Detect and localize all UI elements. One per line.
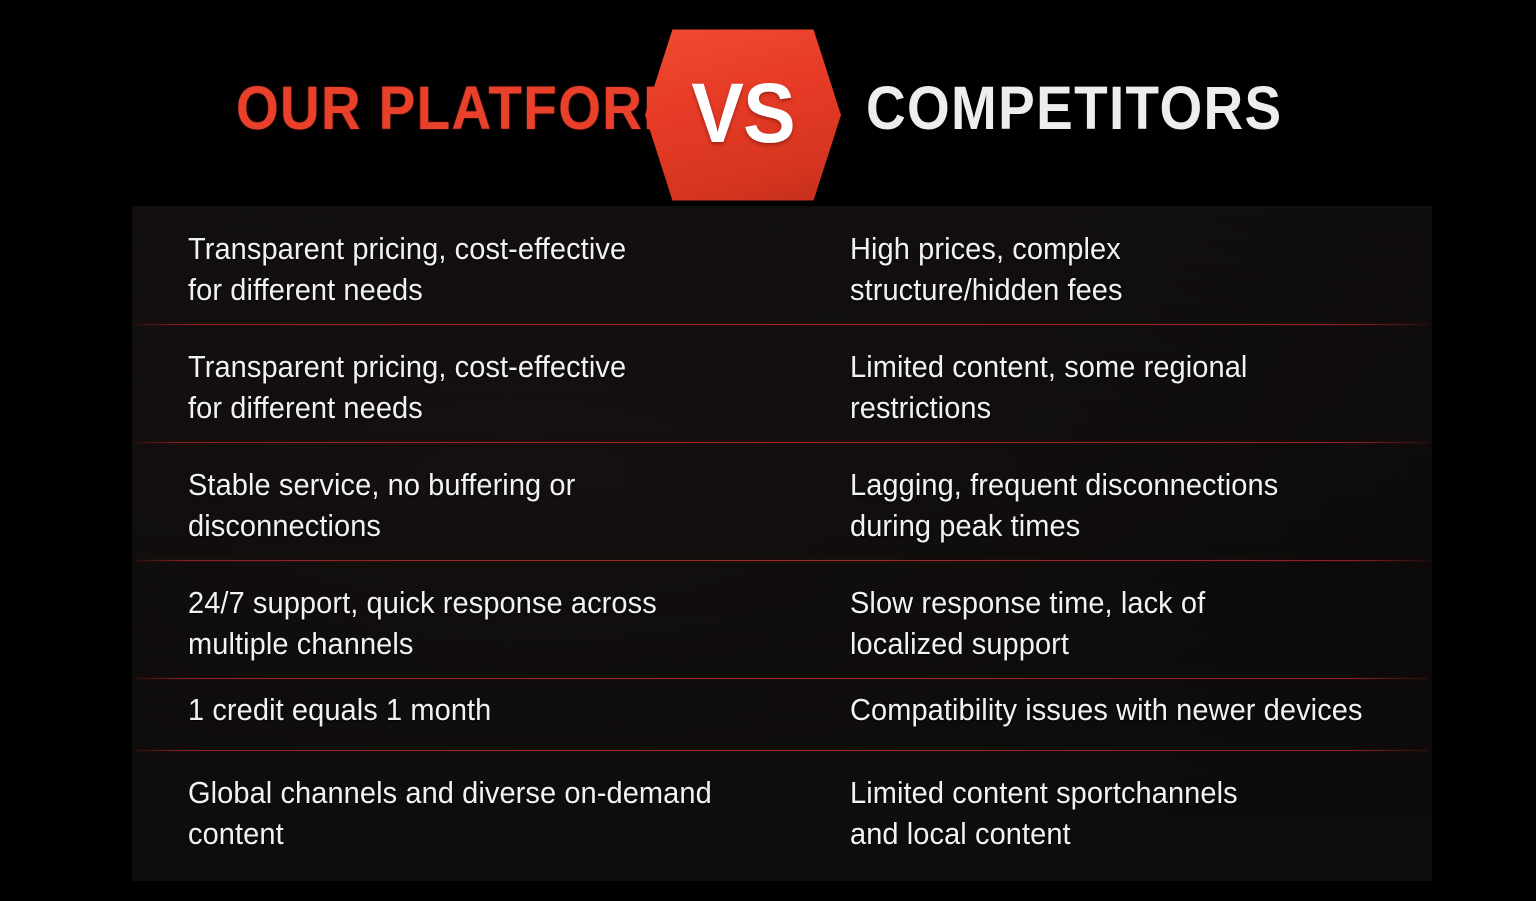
row-divider — [134, 678, 1430, 679]
our-platform-cell: Stable service, no buffering or disconne… — [188, 465, 806, 547]
table-row: 24/7 support, quick response across mult… — [0, 560, 1536, 678]
vs-badge: VS — [645, 26, 841, 204]
competitor-cell: Limited content, some regional restricti… — [850, 347, 1430, 429]
competitor-cell: Limited content sportchannels and local … — [850, 773, 1430, 855]
row-divider — [134, 750, 1430, 751]
our-platform-title: OUR PLATFORM — [236, 78, 690, 139]
vs-badge-label: VS — [651, 26, 835, 204]
competitor-cell: Compatibility issues with newer devices — [850, 690, 1430, 731]
competitors-title: COMPETITORS — [866, 78, 1282, 139]
comparison-table: Transparent pricing, cost-effective for … — [0, 206, 1536, 868]
table-row: Transparent pricing, cost-effective for … — [0, 206, 1536, 324]
header: OUR PLATFORM VS COMPETITORS — [0, 0, 1536, 206]
our-platform-cell: Transparent pricing, cost-effective for … — [188, 229, 806, 311]
table-row: Global channels and diverse on-demand co… — [0, 750, 1536, 868]
competitor-cell: High prices, complex structure/hidden fe… — [850, 229, 1430, 311]
table-row: 1 credit equals 1 month Compatibility is… — [0, 678, 1536, 750]
our-platform-cell: Transparent pricing, cost-effective for … — [188, 347, 806, 429]
row-divider — [134, 560, 1430, 561]
table-row: Stable service, no buffering or disconne… — [0, 442, 1536, 560]
row-divider — [134, 324, 1430, 325]
row-divider — [134, 442, 1430, 443]
vs-comparison-graphic: OUR PLATFORM VS COMPETITORS Transparent … — [0, 0, 1536, 901]
competitor-cell: Lagging, frequent disconnections during … — [850, 465, 1430, 547]
competitor-cell: Slow response time, lack of localized su… — [850, 583, 1430, 665]
our-platform-cell: 24/7 support, quick response across mult… — [188, 583, 806, 665]
our-platform-cell: 1 credit equals 1 month — [188, 690, 806, 731]
our-platform-cell: Global channels and diverse on-demand co… — [188, 773, 806, 855]
table-row: Transparent pricing, cost-effective for … — [0, 324, 1536, 442]
